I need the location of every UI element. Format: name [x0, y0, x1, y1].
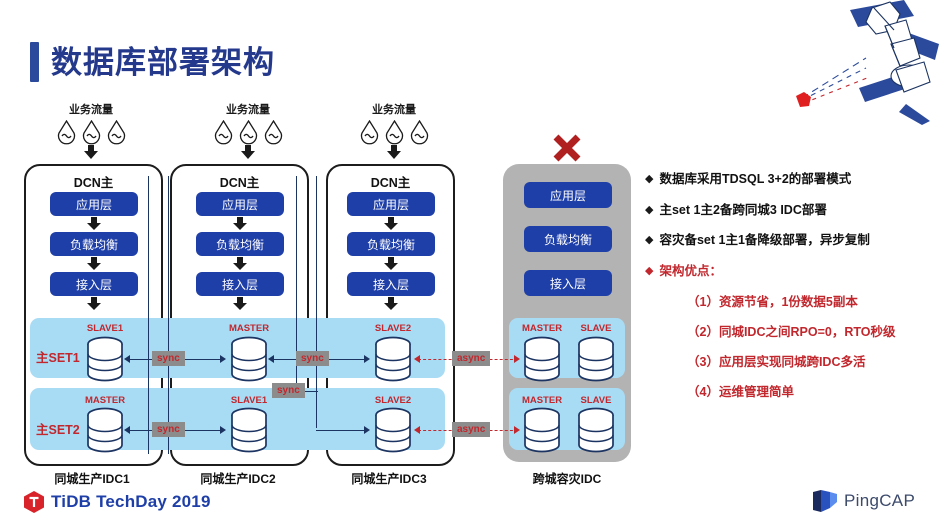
bullet-list: ◆ 数据库采用TDSQL 3+2的部署模式 ◆ 主set 1主2备跨同城3 ID… — [645, 172, 935, 411]
layer-access[interactable]: 接入层 — [196, 272, 284, 296]
satellite-decoration — [754, 0, 939, 125]
sync-link — [316, 430, 368, 431]
droplet-icon — [409, 120, 430, 145]
traffic-group-3: 业务流量 — [334, 101, 454, 160]
layer-app[interactable]: 应用层 — [196, 192, 284, 216]
down-arrow-icon — [86, 297, 102, 311]
bullet-item: ◆ 数据库采用TDSQL 3+2的部署模式 — [645, 172, 935, 188]
arrow-icon — [514, 426, 520, 434]
sub-bullet-item: （3）应用层实现同城跨IDC多活 — [687, 351, 935, 370]
diamond-bullet-icon: ◆ — [645, 233, 653, 248]
pingcap-logo: PingCAP — [812, 489, 915, 513]
dr-layer-app[interactable]: 应用层 — [524, 182, 612, 208]
bullet-item: ◆ 主set 1主2备跨同城3 IDC部署 — [645, 203, 935, 219]
db-cylinder-icon — [522, 407, 562, 453]
arrow-icon — [124, 355, 130, 363]
tidb-logo: TiDB TechDay 2019 — [22, 490, 211, 514]
set1-label: 主SET1 — [36, 347, 80, 366]
title-accent-bar — [30, 42, 39, 82]
bullet-item: ◆ 容灾备set 1主1备降级部署，异步复制 — [645, 233, 935, 249]
diamond-bullet-icon: ◆ — [645, 203, 653, 218]
layer-app[interactable]: 应用层 — [50, 192, 138, 216]
db-role-label: SLAVE2 — [358, 323, 428, 334]
down-arrow-icon — [383, 297, 399, 311]
db-cylinder-icon — [576, 336, 616, 382]
sync-tag: sync — [272, 383, 305, 398]
dr-layer-lb[interactable]: 负载均衡 — [524, 226, 612, 252]
sync-tag: sync — [296, 351, 329, 366]
arrow-icon — [414, 426, 420, 434]
tidb-hexagon-icon — [22, 490, 46, 514]
dr-idc-footer: 跨城容灾IDC — [507, 470, 627, 487]
traffic-group-2: 业务流量 — [188, 101, 308, 160]
bullet-text: 数据库采用TDSQL 3+2的部署模式 — [659, 172, 851, 188]
droplet-icon — [384, 120, 405, 145]
down-arrow-icon — [240, 145, 256, 160]
set2-label: 主SET2 — [36, 419, 80, 438]
sub-bullet-item: （1）资源节省，1份数据5副本 — [687, 291, 935, 310]
page-title: 数据库部署架构 — [30, 42, 275, 82]
sync-tag: sync — [152, 422, 185, 437]
down-arrow-icon — [86, 217, 102, 231]
droplet-icon — [213, 120, 234, 145]
down-arrow-icon — [232, 257, 248, 271]
db-cylinder-icon — [229, 407, 269, 453]
arrow-icon — [124, 426, 130, 434]
pingcap-logo-text: PingCAP — [844, 491, 915, 511]
dr-db-role-label: SLAVE — [561, 395, 631, 406]
down-arrow-icon — [386, 145, 402, 160]
arrow-icon — [268, 355, 274, 363]
db-cylinder-icon — [373, 407, 413, 453]
db-cylinder-icon — [373, 336, 413, 382]
db-cylinder-icon — [576, 407, 616, 453]
traffic-drops — [334, 120, 454, 145]
async-tag: async — [452, 351, 490, 366]
bullet-item: ◆ 架构优点： — [645, 264, 935, 280]
dr-layer-access[interactable]: 接入层 — [524, 270, 612, 296]
layer-lb[interactable]: 负载均衡 — [347, 232, 435, 256]
droplet-icon — [263, 120, 284, 145]
route-line — [148, 176, 149, 454]
sync-tag: sync — [152, 351, 185, 366]
route-line — [168, 176, 169, 454]
down-arrow-icon — [232, 217, 248, 231]
down-arrow-icon — [83, 145, 99, 160]
idc-footer-2: 同城生产IDC2 — [178, 470, 298, 487]
traffic-label: 业务流量 — [334, 101, 454, 117]
traffic-drops — [31, 120, 151, 145]
diamond-bullet-icon: ◆ — [645, 172, 653, 187]
db-cylinder-icon — [85, 407, 125, 453]
sub-bullet-item: （4）运维管理简单 — [687, 381, 935, 400]
droplet-icon — [81, 120, 102, 145]
tidb-logo-text: TiDB TechDay 2019 — [51, 492, 211, 512]
bullet-text: 架构优点： — [659, 264, 722, 280]
layer-access[interactable]: 接入层 — [50, 272, 138, 296]
sub-bullet-item: （2）同城IDC之间RPO=0，RTO秒级 — [687, 321, 935, 340]
bullet-text: 容灾备set 1主1备降级部署，异步复制 — [659, 233, 869, 249]
idc-footer-3: 同城生产IDC3 — [329, 470, 449, 487]
traffic-label: 业务流量 — [31, 101, 151, 117]
title-text: 数据库部署架构 — [51, 47, 275, 78]
dcn-label: DCN主 — [172, 172, 307, 191]
db-role-label: MASTER — [70, 395, 140, 406]
droplet-icon — [238, 120, 259, 145]
async-tag: async — [452, 422, 490, 437]
dr-db-role-label: SLAVE — [561, 323, 631, 334]
arrow-icon — [220, 355, 226, 363]
db-cylinder-icon — [229, 336, 269, 382]
arrow-icon — [364, 426, 370, 434]
layer-lb[interactable]: 负载均衡 — [50, 232, 138, 256]
down-arrow-icon — [86, 257, 102, 271]
down-arrow-icon — [383, 257, 399, 271]
db-cylinder-icon — [522, 336, 562, 382]
dcn-label: DCN主 — [328, 172, 453, 191]
slide-canvas: 数据库部署架构 业务流量 业务流量 业务流量 DCN主 — [0, 0, 939, 525]
db-cylinder-icon — [85, 336, 125, 382]
droplet-icon — [106, 120, 127, 145]
traffic-drops — [188, 120, 308, 145]
droplet-icon — [56, 120, 77, 145]
traffic-label: 业务流量 — [188, 101, 308, 117]
route-line — [316, 390, 317, 428]
traffic-group-1: 业务流量 — [31, 101, 151, 160]
arrow-icon — [364, 355, 370, 363]
pingcap-mark-icon — [812, 489, 838, 513]
idc-footer-1: 同城生产IDC1 — [32, 470, 152, 487]
db-role-label: SLAVE2 — [358, 395, 428, 406]
layer-app[interactable]: 应用层 — [347, 192, 435, 216]
db-role-label: SLAVE1 — [70, 323, 140, 334]
x-mark-icon — [552, 133, 582, 163]
down-arrow-icon — [232, 297, 248, 311]
bullet-text: 主set 1主2备跨同城3 IDC部署 — [659, 203, 826, 219]
dcn-label: DCN主 — [26, 172, 161, 191]
arrow-icon — [220, 426, 226, 434]
arrow-icon — [414, 355, 420, 363]
arrow-icon — [514, 355, 520, 363]
droplet-icon — [359, 120, 380, 145]
layer-lb[interactable]: 负载均衡 — [196, 232, 284, 256]
layer-access[interactable]: 接入层 — [347, 272, 435, 296]
db-role-label: MASTER — [214, 323, 284, 334]
down-arrow-icon — [383, 217, 399, 231]
diamond-bullet-icon: ◆ — [645, 264, 653, 279]
